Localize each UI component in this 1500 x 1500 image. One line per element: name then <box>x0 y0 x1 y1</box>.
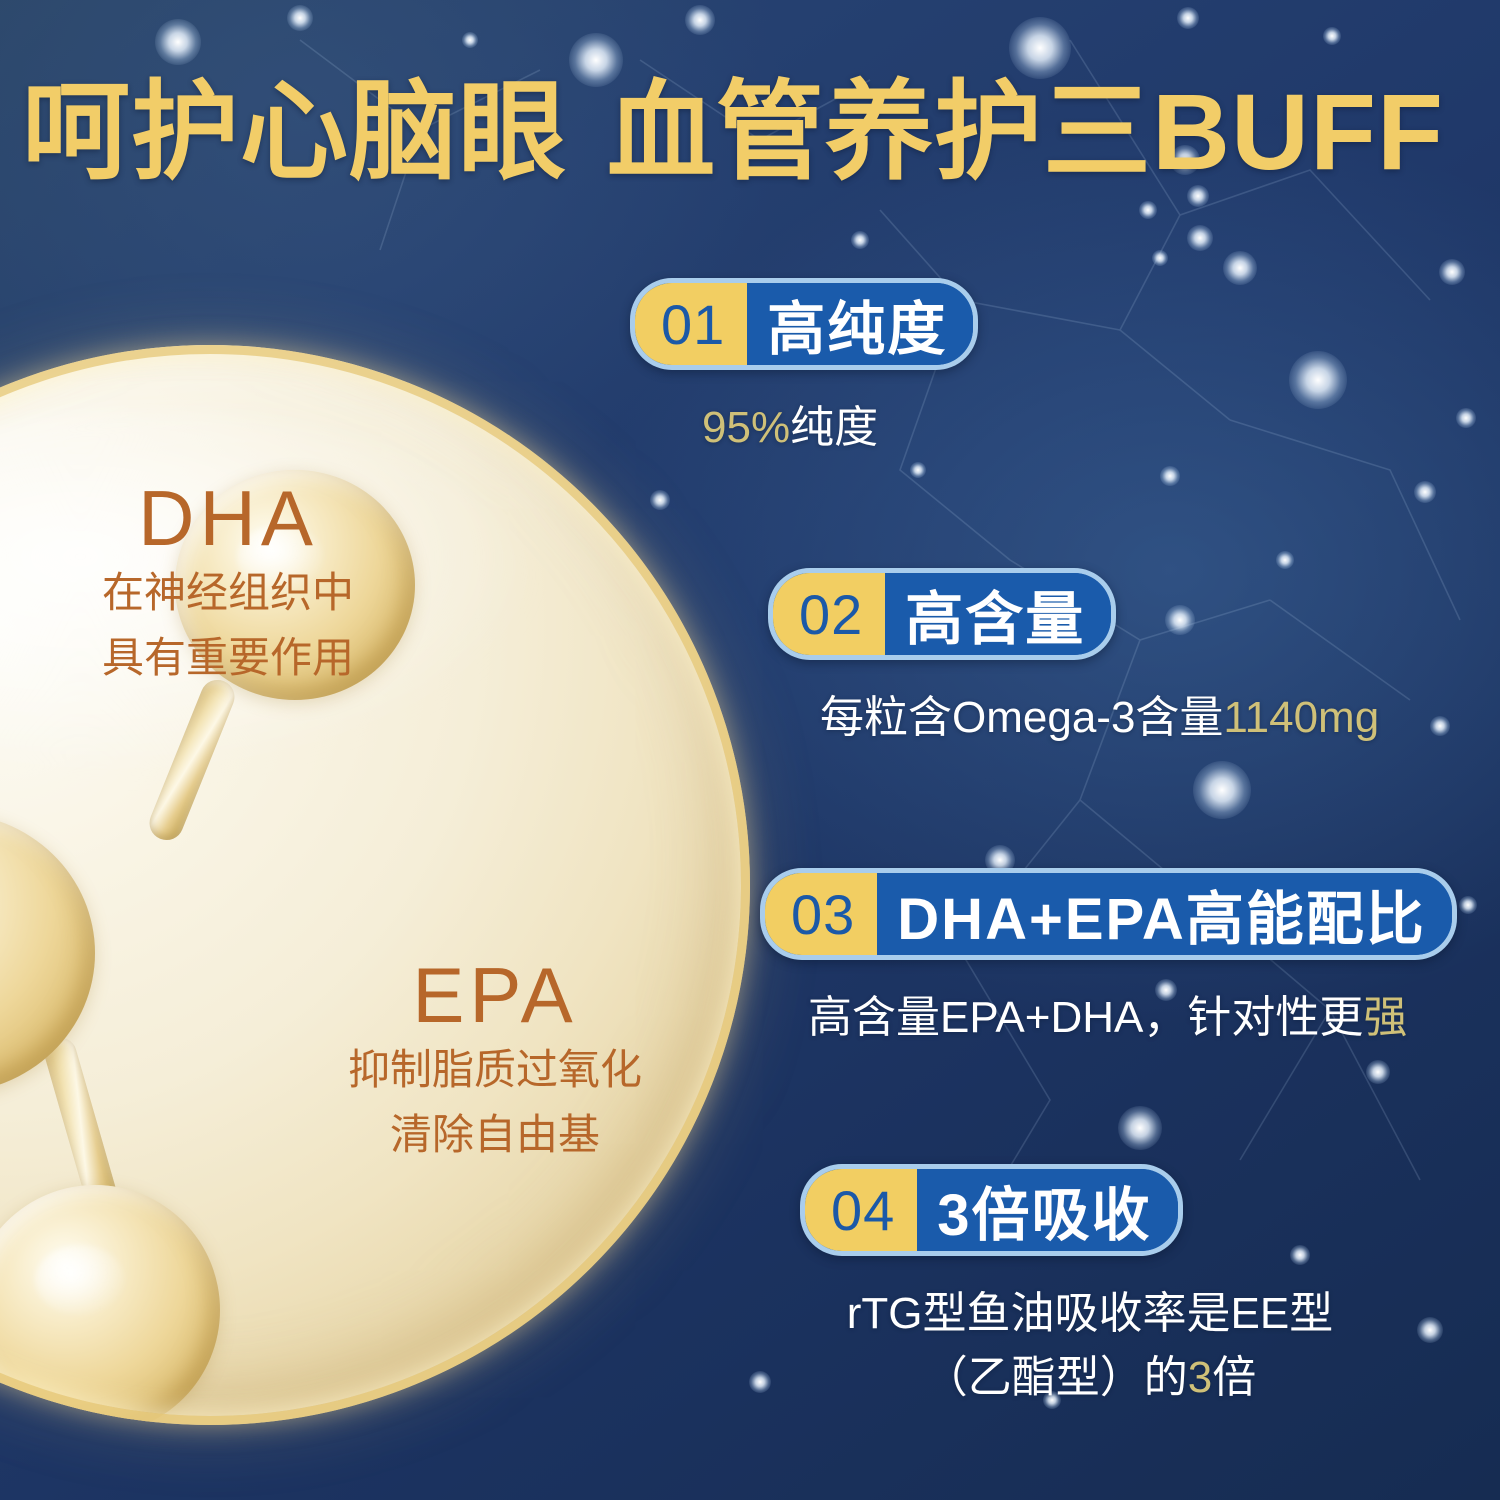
headline-part-1: 呵护心脑眼 <box>22 71 567 192</box>
feature-badge-03: 03 DHA+EPA高能配比 <box>760 868 1457 960</box>
feature-item-01: 01 高纯度 95%纯度 <box>630 278 978 460</box>
feature-desc-line2-highlight-04: 3 <box>1188 1353 1212 1402</box>
feature-label-02: 高含量 <box>885 573 1111 655</box>
feature-badge-02: 02 高含量 <box>768 568 1116 660</box>
feature-item-02: 02 高含量 每粒含Omega-3含量1140mg <box>768 568 1379 750</box>
feature-label-03: DHA+EPA高能配比 <box>877 873 1451 955</box>
feature-description-03: 高含量EPA+DHA，针对性更强 <box>808 986 1457 1050</box>
feature-number-01: 01 <box>635 283 747 365</box>
feature-desc-highlight-01: 95% <box>702 403 790 452</box>
feature-label-04: 3倍吸收 <box>917 1169 1177 1251</box>
feature-badge-04: 04 3倍吸收 <box>800 1164 1183 1256</box>
feature-desc-line2b-04: 倍 <box>1212 1353 1256 1402</box>
feature-desc-rest-02: 每粒含Omega-3含量 <box>820 693 1223 742</box>
feature-description-04: rTG型鱼油吸收率是EE型 （乙酯型）的3倍 <box>790 1282 1390 1410</box>
feature-desc-highlight-03: 强 <box>1363 993 1407 1042</box>
feature-description-01: 95%纯度 <box>702 396 978 460</box>
feature-desc-rest-01: 纯度 <box>790 403 878 452</box>
feature-desc-line1-04: rTG型鱼油吸收率是EE型 <box>790 1282 1390 1346</box>
feature-desc-rest-03: 高含量EPA+DHA，针对性更 <box>808 993 1363 1042</box>
headline-part-2: 血管养护三BUFF <box>607 71 1444 192</box>
feature-item-04: 04 3倍吸收 rTG型鱼油吸收率是EE型 （乙酯型）的3倍 <box>800 1164 1390 1410</box>
feature-item-03: 03 DHA+EPA高能配比 高含量EPA+DHA，针对性更强 <box>760 868 1457 1050</box>
feature-number-02: 02 <box>773 573 885 655</box>
page-title: 呵护心脑眼血管养护三BUFF <box>22 78 1444 186</box>
feature-number-04: 04 <box>805 1169 917 1251</box>
feature-desc-line2-04: （乙酯型）的3倍 <box>790 1346 1390 1410</box>
feature-description-02: 每粒含Omega-3含量1140mg <box>820 686 1379 750</box>
feature-number-03: 03 <box>765 873 877 955</box>
feature-desc-highlight-02: 1140mg <box>1223 693 1379 742</box>
feature-label-01: 高纯度 <box>747 283 973 365</box>
feature-desc-line2a-04: （乙酯型）的 <box>924 1353 1188 1402</box>
feature-badge-01: 01 高纯度 <box>630 278 978 370</box>
product-poster: 呵护心脑眼血管养护三BUFF DHA 在神经组织中 具有重要作用 EPA 抑制脂… <box>0 0 1500 1500</box>
